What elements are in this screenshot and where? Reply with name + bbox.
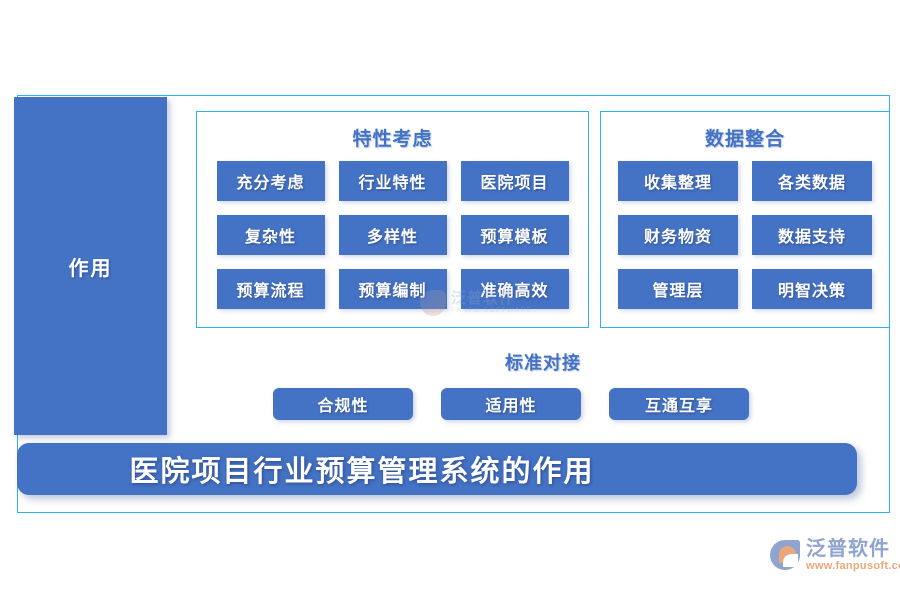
panel-characteristics: 特性考虑 充分考虑 行业特性 医院项目 复杂性 多样性 预算模板 预算流程 预算… <box>196 111 589 328</box>
role-block: 作用 <box>14 97 167 435</box>
chip[interactable]: 预算模板 <box>461 215 569 255</box>
chip[interactable]: 充分考虑 <box>217 161 325 201</box>
panel-characteristics-grid: 充分考虑 行业特性 医院项目 复杂性 多样性 预算模板 预算流程 预算编制 准确… <box>197 161 588 309</box>
chip-row: 充分考虑 行业特性 医院项目 <box>217 161 569 201</box>
bottom-banner: 医院项目行业预算管理系统的作用 <box>17 443 857 495</box>
chip[interactable]: 医院项目 <box>461 161 569 201</box>
bottom-banner-text: 医院项目行业预算管理系统的作用 <box>129 448 594 490</box>
chip[interactable]: 复杂性 <box>217 215 325 255</box>
pill[interactable]: 互通互享 <box>609 388 749 420</box>
panel-data-integration-grid: 收集整理 各类数据 财务物资 数据支持 管理层 明智决策 <box>601 161 889 309</box>
chip-row: 预算流程 预算编制 准确高效 <box>217 269 569 309</box>
brand-url: www.fanpusoft.com <box>806 560 900 572</box>
chip[interactable]: 行业特性 <box>339 161 447 201</box>
chip[interactable]: 预算流程 <box>217 269 325 309</box>
chip-row: 管理层 明智决策 <box>618 269 872 309</box>
panel-data-integration: 数据整合 收集整理 各类数据 财务物资 数据支持 管理层 明智决策 <box>600 111 890 328</box>
chip[interactable]: 预算编制 <box>339 269 447 309</box>
fanpu-logo-icon <box>770 540 800 570</box>
role-block-label: 作用 <box>69 252 113 281</box>
chip-row: 收集整理 各类数据 <box>618 161 872 201</box>
panel-data-integration-title: 数据整合 <box>601 124 889 151</box>
chip[interactable]: 财务物资 <box>618 215 738 255</box>
standard-section-title: 标准对接 <box>196 349 890 375</box>
chip[interactable]: 收集整理 <box>618 161 738 201</box>
chip[interactable]: 管理层 <box>618 269 738 309</box>
diagram-canvas: 作用 特性考虑 充分考虑 行业特性 医院项目 复杂性 多样性 预算模板 预算流程… <box>0 0 900 600</box>
pill[interactable]: 适用性 <box>441 388 581 420</box>
standard-section-pills: 合规性 适用性 互通互享 <box>273 388 749 420</box>
pill[interactable]: 合规性 <box>273 388 413 420</box>
brand-words: 泛普软件 www.fanpusoft.com <box>806 538 900 572</box>
chip-row: 财务物资 数据支持 <box>618 215 872 255</box>
brand-name: 泛普软件 <box>806 538 900 560</box>
panel-characteristics-title: 特性考虑 <box>197 124 588 151</box>
brand-logo: 泛普软件 www.fanpusoft.com <box>770 538 900 572</box>
chip[interactable]: 明智决策 <box>752 269 872 309</box>
chip[interactable]: 数据支持 <box>752 215 872 255</box>
chip[interactable]: 多样性 <box>339 215 447 255</box>
chip-row: 复杂性 多样性 预算模板 <box>217 215 569 255</box>
chip[interactable]: 准确高效 <box>461 269 569 309</box>
chip[interactable]: 各类数据 <box>752 161 872 201</box>
